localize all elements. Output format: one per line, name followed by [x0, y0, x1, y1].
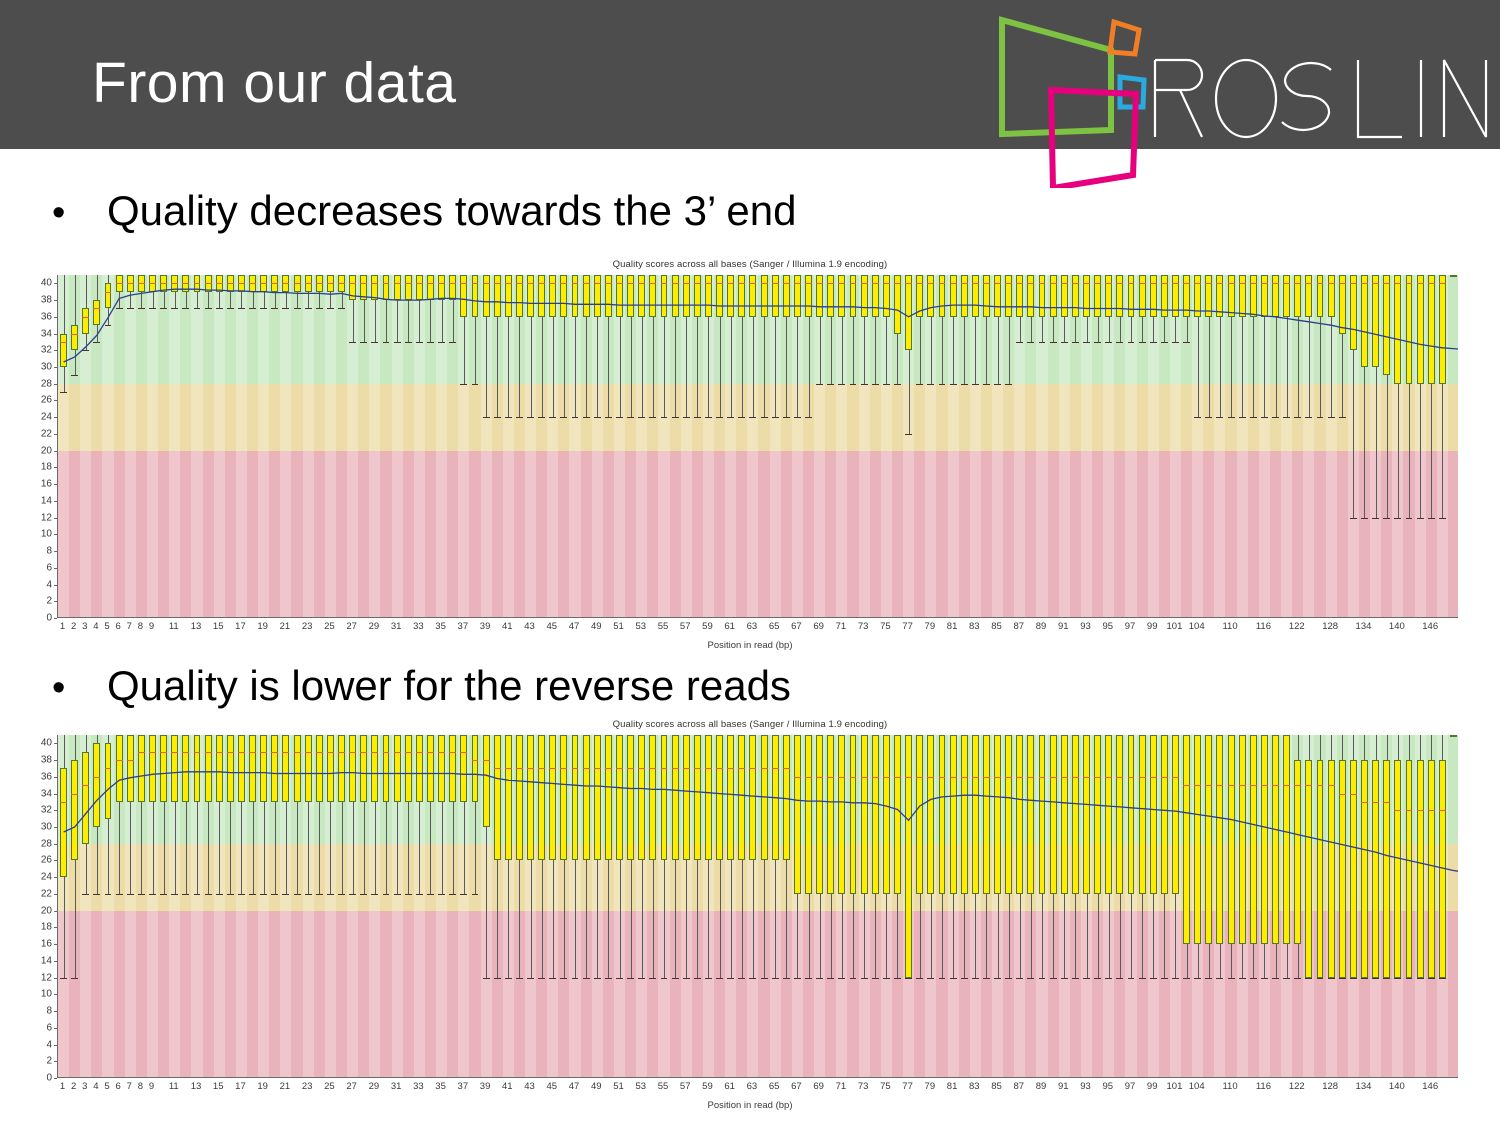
x-axis-tick-label: 87	[1014, 1081, 1025, 1092]
y-axis-tick-label: 0	[30, 613, 52, 624]
y-axis-tick-label: 14	[30, 955, 52, 966]
y-axis-tick-label: 2	[30, 596, 52, 607]
y-axis-tick-label: 10	[30, 989, 52, 1000]
y-axis-tick	[54, 944, 57, 945]
x-axis-tick-label: 59	[702, 621, 713, 632]
x-axis-tick-label: 57	[680, 1081, 691, 1092]
x-axis-tick-label: 7	[127, 621, 132, 632]
x-axis-tick-label: 25	[324, 621, 335, 632]
x-axis-tick-label: 71	[836, 621, 847, 632]
y-axis-tick-label: 28	[30, 838, 52, 849]
x-axis-tick-label: 53	[635, 1081, 646, 1092]
x-axis-tick-label: 41	[502, 621, 513, 632]
y-axis-tick	[54, 1078, 57, 1079]
y-axis-tick	[54, 961, 57, 962]
x-axis-tick-label: 93	[1080, 1081, 1091, 1092]
x-axis-tick-label: 128	[1322, 621, 1338, 632]
x-axis-tick-label: 5	[104, 621, 109, 632]
y-axis-tick-label: 34	[30, 328, 52, 339]
y-axis-tick-label: 32	[30, 805, 52, 816]
y-axis-tick-label: 6	[30, 562, 52, 573]
x-axis-tick-label: 13	[191, 621, 202, 632]
x-axis-tick-label: 79	[925, 1081, 936, 1092]
x-axis-tick-label: 25	[324, 1081, 335, 1092]
y-axis-tick	[54, 743, 57, 744]
x-axis-tick-label: 1	[60, 1081, 65, 1092]
y-axis-tick	[54, 1011, 57, 1012]
y-axis-tick	[54, 367, 57, 368]
x-axis-tick-label: 17	[235, 1081, 246, 1092]
x-axis-tick-label: 35	[435, 1081, 446, 1092]
y-axis-tick	[54, 551, 57, 552]
bullet-item-2: • Quality is lower for the reverse reads	[52, 665, 791, 707]
x-axis-tick-label: 31	[391, 621, 402, 632]
x-axis-tick-label: 146	[1422, 1081, 1438, 1092]
x-axis-tick-label: 8	[138, 1081, 143, 1092]
y-axis-tick	[54, 350, 57, 351]
x-axis-tick-label: 77	[902, 621, 913, 632]
y-axis-tick	[54, 978, 57, 979]
x-axis-tick-label: 89	[1036, 621, 1047, 632]
y-axis-tick	[54, 484, 57, 485]
page-title: From our data	[92, 55, 456, 112]
x-axis-tick-label: 83	[969, 1081, 980, 1092]
x-axis-tick-label: 81	[947, 1081, 958, 1092]
x-axis-tick-label: 8	[138, 621, 143, 632]
y-axis-tick-label: 36	[30, 771, 52, 782]
x-axis-tick-label: 29	[369, 1081, 380, 1092]
x-axis-tick-label: 13	[191, 1081, 202, 1092]
x-axis-tick-label: 73	[858, 621, 869, 632]
bullet-item-1: • Quality decreases towards the 3’ end	[52, 190, 797, 232]
x-axis-tick-label: 128	[1322, 1081, 1338, 1092]
y-axis-tick-label: 0	[30, 1073, 52, 1084]
x-axis-tick-label: 49	[591, 621, 602, 632]
x-axis-tick-label: 45	[547, 621, 558, 632]
x-axis-tick-label: 97	[1125, 621, 1136, 632]
x-axis-tick-label: 140	[1389, 1081, 1405, 1092]
x-axis-tick-label: 19	[257, 621, 268, 632]
y-axis-tick	[54, 894, 57, 895]
x-axis-tick-label: 59	[702, 1081, 713, 1092]
x-axis-tick-label: 55	[658, 1081, 669, 1092]
x-axis-tick-label: 39	[480, 621, 491, 632]
x-axis-tick-label: 99	[1147, 621, 1158, 632]
y-axis-tick	[54, 300, 57, 301]
x-axis-tick-label: 122	[1289, 621, 1305, 632]
x-axis-tick-label: 7	[127, 1081, 132, 1092]
x-axis-tick-label: 47	[569, 1081, 580, 1092]
y-axis-tick-label: 16	[30, 479, 52, 490]
x-axis-tick-label: 6	[115, 621, 120, 632]
y-axis-tick	[54, 384, 57, 385]
y-axis-tick-label: 4	[30, 1039, 52, 1050]
x-axis-tick-label: 3	[82, 1081, 87, 1092]
y-axis-tick	[54, 927, 57, 928]
y-axis-tick	[54, 417, 57, 418]
x-axis-tick-label: 71	[836, 1081, 847, 1092]
x-axis-tick-label: 41	[502, 1081, 513, 1092]
y-axis-tick	[54, 794, 57, 795]
y-axis-tick	[54, 777, 57, 778]
y-axis-tick-label: 22	[30, 888, 52, 899]
y-axis-tick-label: 38	[30, 755, 52, 766]
x-axis-tick-label: 140	[1389, 621, 1405, 632]
x-axis-tick-label: 23	[302, 621, 313, 632]
chart-forward-read-quality: Quality scores across all bases (Sanger …	[30, 258, 1470, 658]
x-axis-tick-label: 15	[213, 1081, 224, 1092]
y-axis-tick-label: 18	[30, 462, 52, 473]
x-axis-tick-label: 37	[458, 1081, 469, 1092]
x-axis-tick-label: 85	[991, 1081, 1002, 1092]
y-axis-tick	[54, 827, 57, 828]
x-axis-tick-label: 9	[149, 1081, 154, 1092]
x-axis-tick-label: 57	[680, 621, 691, 632]
y-axis-tick	[54, 877, 57, 878]
x-axis-tick-label: 31	[391, 1081, 402, 1092]
x-axis-tick-label: 53	[635, 621, 646, 632]
y-axis-tick-label: 6	[30, 1022, 52, 1033]
x-axis-tick-label: 3	[82, 621, 87, 632]
plot-area	[57, 275, 1458, 618]
x-axis-tick-label: 122	[1289, 1081, 1305, 1092]
y-axis-tick	[54, 994, 57, 995]
x-axis-tick-label: 67	[791, 621, 802, 632]
x-axis-tick-label: 51	[613, 621, 624, 632]
y-axis-tick-label: 18	[30, 922, 52, 933]
x-axis-tick-label: 17	[235, 621, 246, 632]
x-axis-tick-label: 21	[280, 1081, 291, 1092]
x-axis: 1234567891113151719212325272931333537394…	[57, 621, 1458, 635]
y-axis-tick-label: 4	[30, 579, 52, 590]
y-axis-tick-label: 20	[30, 905, 52, 916]
y-axis-tick	[54, 467, 57, 468]
y-axis-tick-label: 8	[30, 546, 52, 557]
x-axis-tick-label: 69	[813, 1081, 824, 1092]
y-axis-tick	[54, 434, 57, 435]
x-axis-tick-label: 6	[115, 1081, 120, 1092]
x-axis-tick-label: 77	[902, 1081, 913, 1092]
x-axis-tick-label: 1	[60, 621, 65, 632]
x-axis-tick-label: 27	[346, 1081, 357, 1092]
x-axis-tick-label: 63	[747, 621, 758, 632]
y-axis-tick-label: 24	[30, 412, 52, 423]
x-axis-tick-label: 2	[71, 1081, 76, 1092]
x-axis-tick-label: 134	[1356, 621, 1372, 632]
y-axis-tick-label: 10	[30, 529, 52, 540]
x-axis-tick-label: 49	[591, 1081, 602, 1092]
x-axis-tick-label: 65	[769, 621, 780, 632]
y-axis-tick-label: 26	[30, 395, 52, 406]
bullet-text: Quality decreases towards the 3’ end	[107, 190, 797, 232]
y-axis-tick-label: 16	[30, 939, 52, 950]
x-axis-tick-label: 104	[1189, 1081, 1205, 1092]
mean-quality-line	[58, 275, 1458, 618]
y-axis-tick	[54, 1028, 57, 1029]
x-axis-tick-label: 61	[724, 621, 735, 632]
slide-header: From our data	[0, 0, 1500, 149]
y-axis-tick-label: 20	[30, 445, 52, 456]
x-axis-tick-label: 23	[302, 1081, 313, 1092]
roslin-logo	[974, 8, 1494, 188]
y-axis-tick	[54, 1061, 57, 1062]
x-axis-tick-label: 11	[169, 1081, 179, 1092]
y-axis-tick-label: 30	[30, 362, 52, 373]
bullet-marker-icon: •	[52, 194, 107, 232]
y-axis-tick-label: 26	[30, 855, 52, 866]
y-axis-tick-label: 2	[30, 1056, 52, 1067]
x-axis-tick-label: 91	[1058, 1081, 1069, 1092]
x-axis: 1234567891113151719212325272931333537394…	[57, 1081, 1458, 1095]
x-axis-tick-label: 19	[257, 1081, 268, 1092]
x-axis-tick-label: 89	[1036, 1081, 1047, 1092]
x-axis-tick-label: 75	[880, 1081, 891, 1092]
y-axis-tick	[54, 534, 57, 535]
x-axis-tick-label: 134	[1356, 1081, 1372, 1092]
y-axis-tick-label: 34	[30, 788, 52, 799]
y-axis-tick	[54, 810, 57, 811]
y-axis-tick-label: 24	[30, 872, 52, 883]
y-axis-tick-label: 30	[30, 822, 52, 833]
y-axis-tick-label: 28	[30, 378, 52, 389]
x-axis-tick-label: 37	[458, 621, 469, 632]
x-axis-tick-label: 110	[1222, 1081, 1237, 1092]
x-axis-tick-label: 45	[547, 1081, 558, 1092]
x-axis-tick-label: 55	[658, 621, 669, 632]
x-axis-tick-label: 67	[791, 1081, 802, 1092]
y-axis-tick-label: 22	[30, 428, 52, 439]
plot-area	[57, 735, 1458, 1078]
x-axis-tick-label: 2	[71, 621, 76, 632]
x-axis-tick-label: 95	[1102, 1081, 1113, 1092]
x-axis-tick-label: 69	[813, 621, 824, 632]
y-axis-tick-label: 38	[30, 295, 52, 306]
x-axis-tick-label: 75	[880, 621, 891, 632]
x-axis-tick-label: 11	[169, 621, 179, 632]
x-axis-tick-label: 93	[1080, 621, 1091, 632]
x-axis-tick-label: 43	[524, 1081, 535, 1092]
x-axis-tick-label: 99	[1147, 1081, 1158, 1092]
x-axis-tick-label: 39	[480, 1081, 491, 1092]
x-axis-tick-label: 104	[1189, 621, 1205, 632]
y-axis-tick	[54, 400, 57, 401]
x-axis-tick-label: 95	[1102, 621, 1113, 632]
y-axis-tick	[54, 334, 57, 335]
x-axis-tick-label: 81	[947, 621, 958, 632]
y-axis-tick	[54, 451, 57, 452]
x-axis-tick-label: 35	[435, 621, 446, 632]
y-axis-tick-label: 12	[30, 972, 52, 983]
x-axis-tick-label: 116	[1256, 1081, 1271, 1092]
y-axis-tick	[54, 1045, 57, 1046]
y-axis-tick-label: 40	[30, 738, 52, 749]
x-axis-tick-label: 4	[93, 621, 98, 632]
y-axis-tick	[54, 601, 57, 602]
x-axis-tick-label: 79	[925, 621, 936, 632]
x-axis-tick-label: 61	[724, 1081, 735, 1092]
y-axis-tick	[54, 860, 57, 861]
x-axis-tick-label: 5	[104, 1081, 109, 1092]
x-axis-tick-label: 51	[613, 1081, 624, 1092]
x-axis-tick-label: 146	[1422, 621, 1438, 632]
x-axis-tick-label: 9	[149, 621, 154, 632]
y-axis-tick	[54, 317, 57, 318]
x-axis-tick-label: 110	[1222, 621, 1237, 632]
x-axis-tick-label: 116	[1256, 621, 1271, 632]
y-axis-tick-label: 14	[30, 495, 52, 506]
y-axis-tick	[54, 283, 57, 284]
x-axis-tick-label: 29	[369, 621, 380, 632]
x-axis-tick-label: 43	[524, 621, 535, 632]
chart-title: Quality scores across all bases (Sanger …	[30, 259, 1470, 270]
chart-title: Quality scores across all bases (Sanger …	[30, 719, 1470, 730]
x-axis-tick-label: 63	[747, 1081, 758, 1092]
y-axis-tick	[54, 585, 57, 586]
x-axis-tick-label: 65	[769, 1081, 780, 1092]
x-axis-tick-label: 101	[1167, 621, 1183, 632]
bullet-marker-icon: •	[52, 669, 107, 707]
y-axis-tick	[54, 568, 57, 569]
y-axis: 0246810121416182022242628303234363840	[30, 735, 57, 1078]
x-axis-tick-label: 15	[213, 621, 224, 632]
x-axis-tick-label: 97	[1125, 1081, 1136, 1092]
y-axis-tick-label: 36	[30, 311, 52, 322]
x-axis-tick-label: 101	[1167, 1081, 1183, 1092]
y-axis-tick-label: 40	[30, 278, 52, 289]
x-axis-title: Position in read (bp)	[30, 1100, 1470, 1111]
x-axis-tick-label: 27	[346, 621, 357, 632]
x-axis-tick-label: 83	[969, 621, 980, 632]
y-axis-tick	[54, 618, 57, 619]
x-axis-title: Position in read (bp)	[30, 640, 1470, 651]
y-axis-tick	[54, 911, 57, 912]
y-axis-tick	[54, 518, 57, 519]
x-axis-tick-label: 91	[1058, 621, 1069, 632]
y-axis-tick	[54, 844, 57, 845]
bullet-text: Quality is lower for the reverse reads	[107, 665, 791, 707]
mean-quality-line	[58, 735, 1458, 1078]
x-axis-tick-label: 33	[413, 1081, 424, 1092]
x-axis-tick-label: 85	[991, 621, 1002, 632]
y-axis-tick	[54, 760, 57, 761]
y-axis-tick-label: 32	[30, 345, 52, 356]
y-axis-tick-label: 8	[30, 1006, 52, 1017]
x-axis-tick-label: 47	[569, 621, 580, 632]
x-axis-tick-label: 4	[93, 1081, 98, 1092]
chart-reverse-read-quality: Quality scores across all bases (Sanger …	[30, 718, 1470, 1118]
x-axis-tick-label: 21	[280, 621, 291, 632]
x-axis-tick-label: 87	[1014, 621, 1025, 632]
x-axis-tick-label: 73	[858, 1081, 869, 1092]
y-axis-tick-label: 12	[30, 512, 52, 523]
y-axis: 0246810121416182022242628303234363840	[30, 275, 57, 618]
slide: From our data	[0, 0, 1500, 1125]
y-axis-tick	[54, 501, 57, 502]
x-axis-tick-label: 33	[413, 621, 424, 632]
